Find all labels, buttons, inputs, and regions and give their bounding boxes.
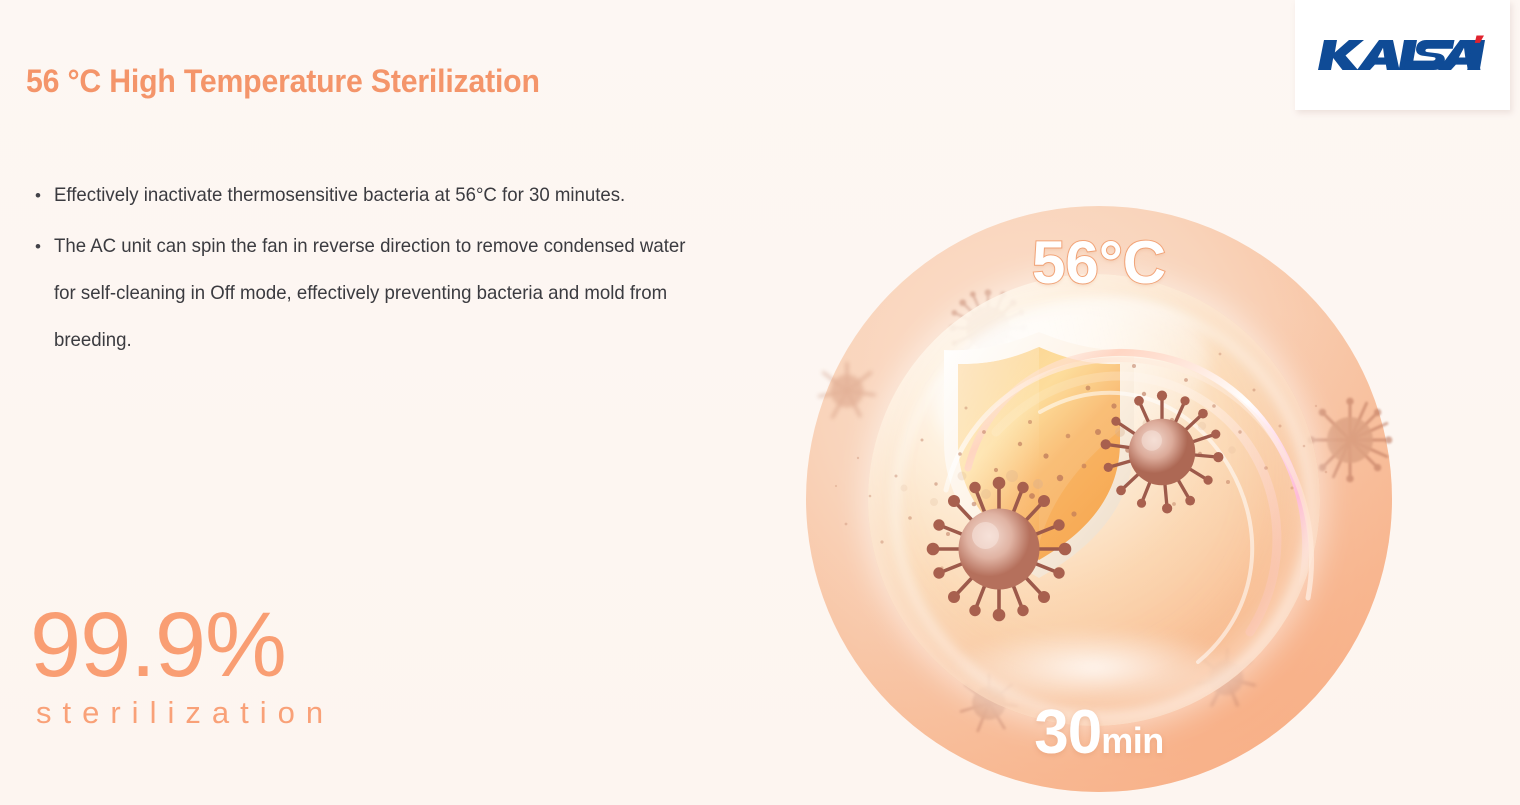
stat-value: 99.9% (30, 602, 334, 689)
duration-unit: min (1101, 720, 1164, 761)
slide-root: 56 °C High Temperature Sterilization • E… (0, 0, 1520, 805)
page-title: 56 °C High Temperature Sterilization (26, 63, 540, 100)
list-item: • The AC unit can spin the fan in revers… (28, 223, 728, 364)
sterilization-stat: 99.9% sterilization (30, 602, 334, 731)
list-item-text: The AC unit can spin the fan in reverse … (54, 223, 698, 364)
kaisai-logo-icon (1318, 34, 1488, 76)
stat-caption: sterilization (36, 695, 334, 731)
shield-icon (932, 330, 1146, 580)
duration-value: 30 (1034, 698, 1101, 767)
bullet-marker-icon: • (28, 223, 54, 270)
temperature-badge: 56°C (806, 228, 1392, 297)
brand-logo-box (1295, 0, 1510, 110)
feature-bullet-list: • Effectively inactivate thermosensitive… (28, 172, 728, 368)
list-item-text: Effectively inactivate thermosensitive b… (54, 172, 698, 219)
list-item: • Effectively inactivate thermosensitive… (28, 172, 728, 219)
bullet-marker-icon: • (28, 172, 54, 219)
sphere-bottom-glow (949, 627, 1238, 708)
duration-badge: 30min (806, 702, 1392, 764)
sterilization-illustration: 56°C 30min (806, 206, 1392, 792)
